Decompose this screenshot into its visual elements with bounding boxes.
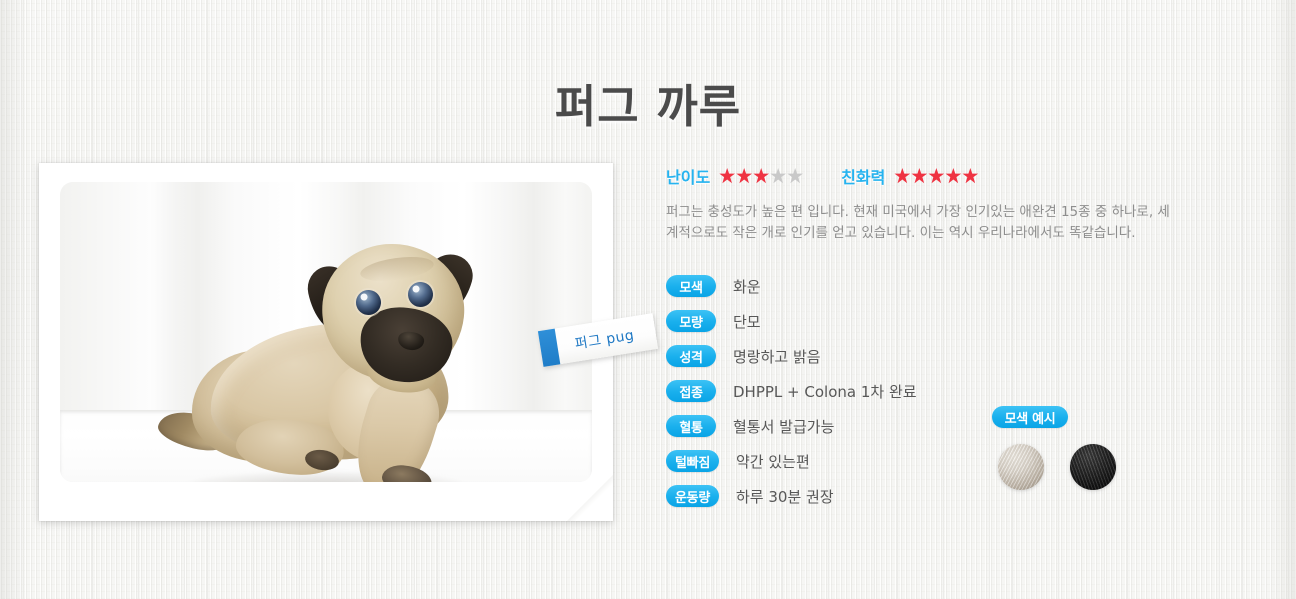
attribute-value: 약간 있는편 — [736, 451, 810, 472]
star-3 — [753, 168, 769, 184]
photo-frame — [39, 163, 613, 521]
attribute-row-coat-volume: 모량 단모 — [666, 304, 1266, 339]
coat-examples-label: 모색 예시 — [992, 406, 1068, 428]
attribute-value: DHPPL + Colona 1차 완료 — [733, 381, 917, 402]
attribute-label: 털빠짐 — [666, 450, 719, 472]
attribute-list: 모색 화운 모량 단모 성격 명랑하고 밝음 접종 DHPPL + Colona… — [666, 269, 1266, 514]
rating-friendliness-label: 친화력 — [841, 164, 885, 188]
attribute-row-exercise: 운동량 하루 30분 권장 — [666, 479, 1266, 514]
attribute-row-coat-color: 모색 화운 — [666, 269, 1266, 304]
star-1 — [894, 168, 910, 184]
attribute-label: 운동량 — [666, 485, 719, 507]
attribute-row-vaccination: 접종 DHPPL + Colona 1차 완료 — [666, 374, 1266, 409]
ratings-row: 난이도 친화력 — [666, 163, 1266, 189]
name-tag-label: 퍼그 pug — [556, 321, 657, 356]
coat-swatch-list — [992, 444, 1116, 490]
attribute-row-shedding: 털빠짐 약간 있는편 — [666, 444, 1266, 479]
star-3 — [928, 168, 944, 184]
attribute-label: 모색 — [666, 275, 716, 297]
attribute-value: 단모 — [733, 311, 761, 332]
attribute-value: 화운 — [733, 276, 761, 297]
attribute-label: 성격 — [666, 345, 716, 367]
rating-friendliness-stars — [894, 168, 978, 184]
star-4 — [945, 168, 961, 184]
rating-difficulty-stars — [719, 168, 803, 184]
page-background: 퍼그 까루 — [0, 0, 1296, 599]
pug-photo — [60, 182, 592, 482]
attribute-label: 접종 — [666, 380, 716, 402]
pug-right-eye-highlight — [412, 285, 420, 293]
info-panel: 난이도 친화력 — [666, 163, 1266, 514]
star-2 — [911, 168, 927, 184]
rating-difficulty-label: 난이도 — [666, 164, 710, 188]
attribute-value: 혈통서 발급가능 — [733, 416, 834, 437]
star-1 — [719, 168, 735, 184]
star-5 — [787, 168, 803, 184]
rating-friendliness: 친화력 — [841, 164, 978, 188]
pug-left-eye-highlight — [360, 293, 368, 301]
page-curl-corner — [567, 475, 613, 521]
attribute-label: 모량 — [666, 310, 716, 332]
attribute-row-temperament: 성격 명랑하고 밝음 — [666, 339, 1266, 374]
attribute-label: 혈통 — [666, 415, 716, 437]
attribute-row-pedigree: 혈통 혈통서 발급가능 — [666, 409, 1266, 444]
coat-color-examples: 모색 예시 — [992, 406, 1116, 490]
attribute-value: 하루 30분 권장 — [736, 486, 834, 507]
star-4 — [770, 168, 786, 184]
attribute-value: 명랑하고 밝음 — [733, 346, 821, 367]
breed-description: 퍼그는 충성도가 높은 편 입니다. 현재 미국에서 가장 인기있는 애완견 1… — [666, 202, 1171, 244]
rating-difficulty: 난이도 — [666, 164, 803, 188]
coat-swatch-fawn — [998, 444, 1044, 490]
star-5 — [962, 168, 978, 184]
star-2 — [736, 168, 752, 184]
page-title: 퍼그 까루 — [0, 70, 1296, 135]
coat-swatch-black — [1070, 444, 1116, 490]
